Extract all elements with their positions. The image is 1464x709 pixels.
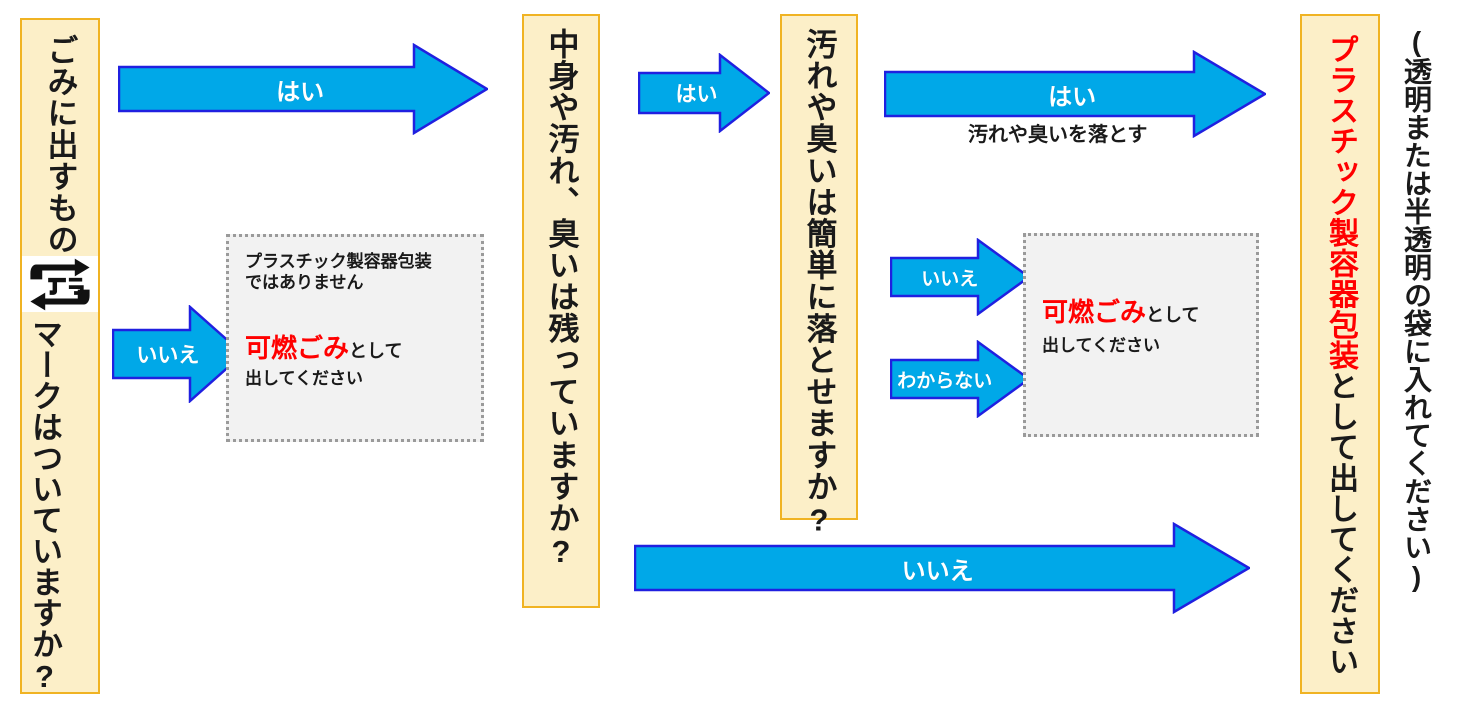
question-box-2: 中身や汚れ、臭いは残っていますか? bbox=[522, 14, 600, 608]
panel-1-line-2: ではありません bbox=[245, 272, 465, 293]
arrow-yes-2: はい bbox=[638, 53, 770, 133]
arrow-no-3-label: いいえ bbox=[902, 551, 974, 586]
arrow-yes-2-label: はい bbox=[675, 78, 717, 108]
arrow-yes-1-label: はい bbox=[276, 72, 324, 107]
panel-1-result-red: 可燃ごみ bbox=[245, 333, 349, 363]
panel-2-result-red: 可燃ごみ bbox=[1042, 297, 1146, 327]
panel-1-line-1: プラスチック製容器包装 bbox=[245, 251, 465, 272]
arrow-no-1-label: いいえ bbox=[136, 339, 199, 369]
panel-1-spacer bbox=[245, 294, 465, 310]
arrow-dontknow: わからない bbox=[890, 340, 1030, 418]
question-1-part1: ごみに出すものに bbox=[45, 34, 76, 287]
flowchart-canvas: ごみに出すものに マークはついていますか? はい bbox=[0, 0, 1464, 709]
arrow-no-3: いいえ bbox=[634, 522, 1250, 614]
result-text: プラスチック製容器包装として出してください bbox=[1325, 34, 1355, 677]
panel-1-result-line-2: 出してください bbox=[245, 368, 465, 389]
question-box-3: 汚れや臭いは簡単に落とせますか? bbox=[780, 14, 858, 520]
result-note: (透明または半透明の袋に入れてください) bbox=[1402, 26, 1430, 592]
panel-2-result-rest: として bbox=[1146, 305, 1199, 325]
arrow-no-1: いいえ bbox=[112, 305, 244, 403]
arrow-no-2: いいえ bbox=[890, 238, 1030, 316]
arrow-yes-1: はい bbox=[118, 43, 488, 135]
arrow-yes-3-note: 汚れや臭いを落とす bbox=[968, 118, 1147, 147]
result-box: プラスチック製容器包装として出してください bbox=[1300, 14, 1380, 694]
result-panel-combustible-right: 可燃ごみとして 出してください bbox=[1023, 233, 1259, 437]
result-panel-combustible-left: プラスチック製容器包装 ではありません 可燃ごみとして 出してください bbox=[226, 234, 484, 442]
plastic-recycle-mark bbox=[22, 256, 98, 312]
panel-1-result-rest: として bbox=[349, 341, 402, 361]
question-2-text: 中身や汚れ、臭いは残っていますか? bbox=[546, 28, 577, 570]
panel-1-result-line: 可燃ごみとして bbox=[245, 332, 465, 365]
panel-2-result-line-2: 出してください bbox=[1042, 335, 1240, 356]
result-text-black: として出してください bbox=[1324, 371, 1357, 677]
arrow-no-2-label: いいえ bbox=[921, 264, 978, 291]
question-3-text: 汚れや臭いは簡単に落とせますか? bbox=[804, 28, 835, 538]
arrow-yes-3-label: はい bbox=[1048, 77, 1096, 112]
question-1-part2: マークはついていますか? bbox=[29, 318, 60, 694]
arrow-dontknow-label: わからない bbox=[897, 366, 992, 393]
panel-2-result-line: 可燃ごみとして bbox=[1042, 296, 1240, 329]
result-text-red: プラスチック製容器包装 bbox=[1324, 34, 1357, 371]
